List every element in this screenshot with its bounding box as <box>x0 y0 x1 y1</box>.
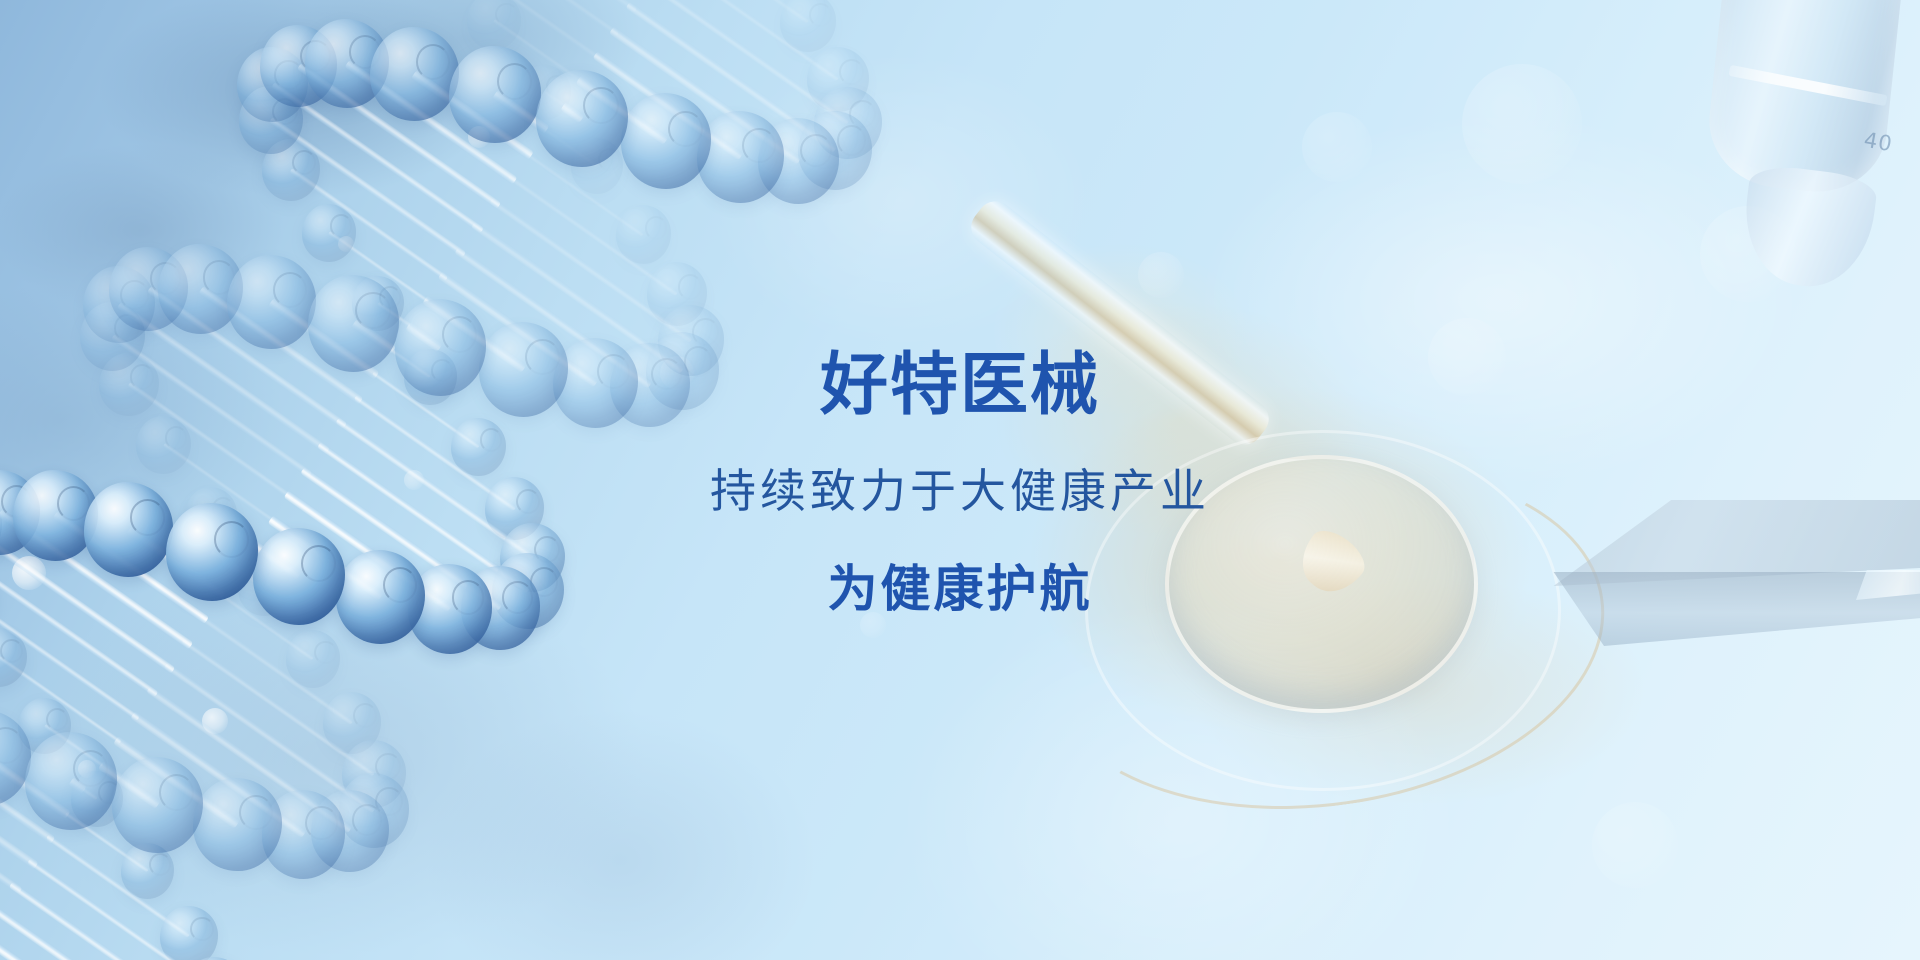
banner-text-block: 好特医械 持续致力于大健康产业 为健康护航 <box>0 0 1920 960</box>
tagline-primary: 持续致力于大健康产业 <box>710 468 1210 514</box>
tagline-secondary: 为健康护航 <box>828 564 1093 614</box>
page-title: 好特医械 <box>820 352 1100 420</box>
hero-banner: 40 好特医械 持续致力于大健康产业 为健康护航 <box>0 0 1920 960</box>
